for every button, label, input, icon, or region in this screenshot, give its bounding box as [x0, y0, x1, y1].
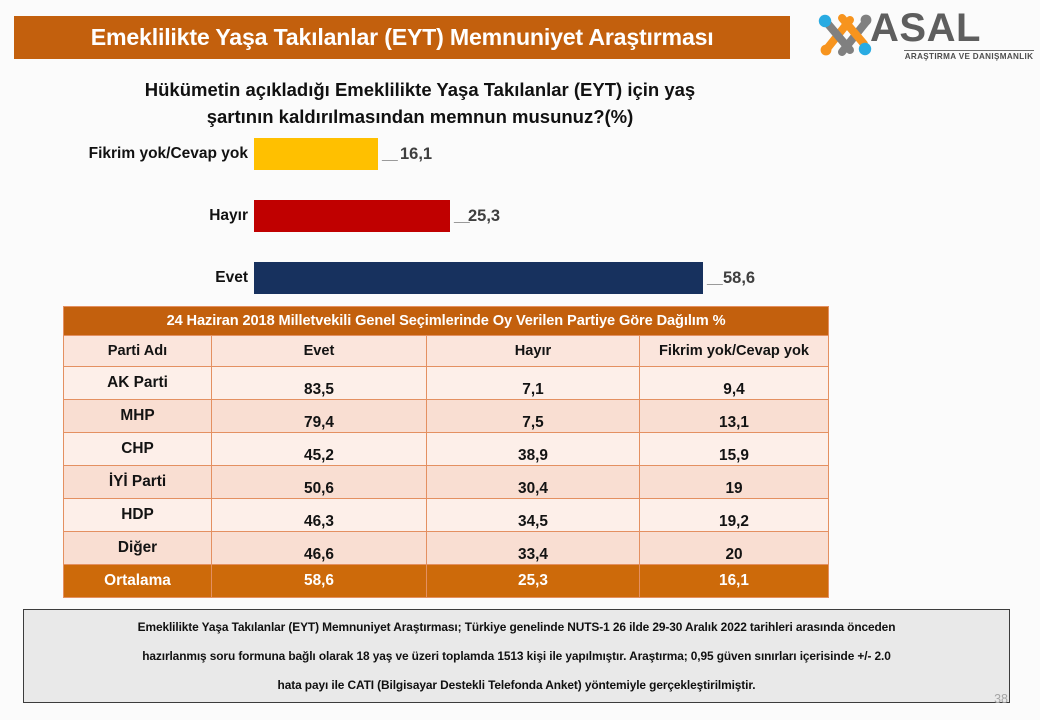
party-breakdown-table: 24 Haziran 2018 Milletvekili Genel Seçim…: [63, 306, 828, 598]
cell-hayir-total: 25,3: [427, 565, 640, 598]
cell-evet: 46,3: [212, 499, 427, 532]
bar-label-evet: Evet: [215, 262, 248, 294]
asal-logo: ASAL ARAŞTIRMA VE DANIŞMANLIK: [812, 6, 1030, 66]
cell-hayir: 33,4: [427, 532, 640, 565]
cell-hayir: 7,1: [427, 367, 640, 400]
table-row: İYİ Parti 50,6 30,4 19: [64, 466, 829, 499]
table-title: 24 Haziran 2018 Milletvekili Genel Seçim…: [64, 307, 829, 336]
cell-fikir: 15,9: [640, 433, 829, 466]
cell-evet-total: 58,6: [212, 565, 427, 598]
page-number: 38: [994, 692, 1008, 706]
cell-fikir: 19,2: [640, 499, 829, 532]
column-header-evet: Evet: [212, 336, 427, 367]
cell-party: MHP: [64, 400, 212, 433]
bar-fikrim-yok: [254, 138, 378, 170]
table-total-row: Ortalama 58,6 25,3 16,1: [64, 565, 829, 598]
cell-fikir: 19: [640, 466, 829, 499]
cell-evet: 50,6: [212, 466, 427, 499]
cell-fikir: 9,4: [640, 367, 829, 400]
bar-leader-evet: [703, 277, 723, 285]
question-text: Hükümetin açıkladığı Emeklilikte Yaşa Ta…: [70, 76, 770, 130]
cell-party-total: Ortalama: [64, 565, 212, 598]
methodology-line-3: hata payı ile CATI (Bilgisayar Destekli …: [278, 671, 756, 700]
bar-value-evet: 58,6: [723, 262, 755, 294]
cell-party: AK Parti: [64, 367, 212, 400]
cell-hayir: 30,4: [427, 466, 640, 499]
cell-party: İYİ Parti: [64, 466, 212, 499]
table-title-row: 24 Haziran 2018 Milletvekili Genel Seçim…: [64, 307, 829, 336]
title-banner: Emeklilikte Yaşa Takılanlar (EYT) Memnun…: [14, 16, 790, 59]
table-row: CHP 45,2 38,9 15,9: [64, 433, 829, 466]
bar-row-hayir: Hayır 25,3: [0, 200, 840, 232]
cell-fikir: 20: [640, 532, 829, 565]
bar-hayir: [254, 200, 450, 232]
bar-value-fikrim-yok: 16,1: [400, 138, 432, 170]
methodology-note: Emeklilikte Yaşa Takılanlar (EYT) Memnun…: [23, 609, 1010, 703]
methodology-line-1: Emeklilikte Yaşa Takılanlar (EYT) Memnun…: [138, 613, 896, 642]
column-header-fikrim: Fikrim yok/Cevap yok: [640, 336, 829, 367]
table-header-row: Parti Adı Evet Hayır Fikrim yok/Cevap yo…: [64, 336, 829, 367]
cell-evet: 45,2: [212, 433, 427, 466]
logo-wordmark: ASAL: [870, 6, 1030, 50]
cell-party: Diğer: [64, 532, 212, 565]
page-title: Emeklilikte Yaşa Takılanlar (EYT) Memnun…: [91, 24, 714, 51]
table-row: MHP 79,4 7,5 13,1: [64, 400, 829, 433]
logo-mark-icon: [816, 8, 876, 60]
column-header-parti: Parti Adı: [64, 336, 212, 367]
bar-row-evet: Evet 58,6: [0, 262, 840, 294]
question-line-2: şartının kaldırılmasından memnun musunuz…: [70, 103, 770, 130]
cell-party: HDP: [64, 499, 212, 532]
table-row: HDP 46,3 34,5 19,2: [64, 499, 829, 532]
cell-hayir: 38,9: [427, 433, 640, 466]
cell-evet: 46,6: [212, 532, 427, 565]
bar-evet: [254, 262, 703, 294]
methodology-line-2: hazırlanmış soru formuna bağlı olarak 18…: [142, 642, 891, 671]
slide-header: Emeklilikte Yaşa Takılanlar (EYT) Memnun…: [0, 0, 1040, 70]
bar-label-hayir: Hayır: [209, 200, 248, 232]
cell-hayir: 34,5: [427, 499, 640, 532]
bar-leader-fikrim-yok: [378, 153, 398, 161]
cell-hayir: 7,5: [427, 400, 640, 433]
cell-fikir: 13,1: [640, 400, 829, 433]
bar-row-fikrim-yok: Fikrim yok/Cevap yok 16,1: [0, 138, 840, 170]
cell-evet: 79,4: [212, 400, 427, 433]
column-header-hayir: Hayır: [427, 336, 640, 367]
bar-chart: Fikrim yok/Cevap yok 16,1 Hayır 25,3 Eve…: [0, 138, 840, 298]
cell-evet: 83,5: [212, 367, 427, 400]
question-line-1: Hükümetin açıkladığı Emeklilikte Yaşa Ta…: [70, 76, 770, 103]
table-row: Diğer 46,6 33,4 20: [64, 532, 829, 565]
bar-label-fikrim-yok: Fikrim yok/Cevap yok: [89, 138, 248, 170]
logo-tagline: ARAŞTIRMA VE DANIŞMANLIK: [904, 50, 1034, 61]
cell-fikir-total: 16,1: [640, 565, 829, 598]
cell-party: CHP: [64, 433, 212, 466]
bar-value-hayir: 25,3: [468, 200, 500, 232]
table-row: AK Parti 83,5 7,1 9,4: [64, 367, 829, 400]
